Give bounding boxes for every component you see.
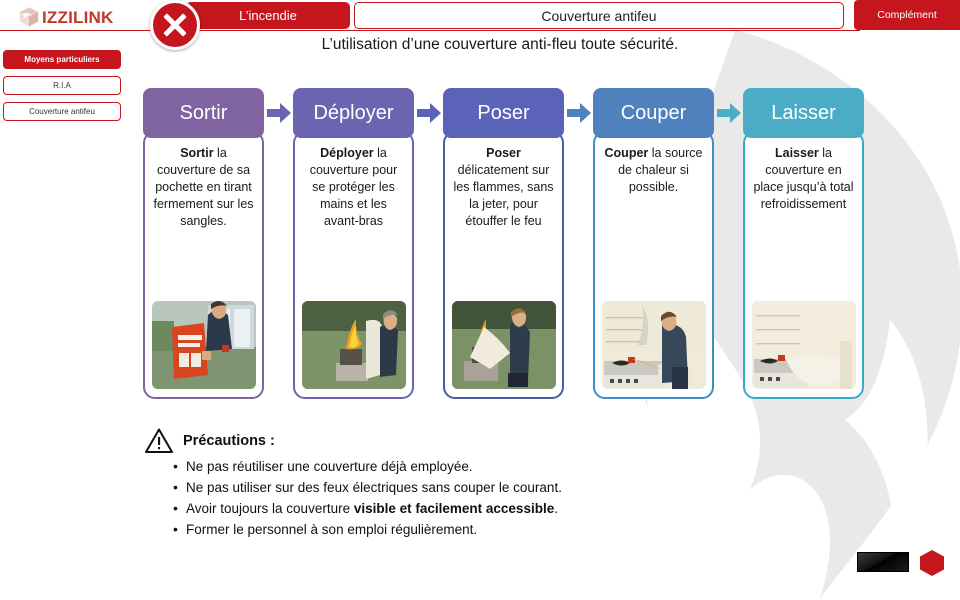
step-card-1: Sortir la couverture de sa pochette en t…	[143, 131, 264, 399]
step-header-2: Déployer	[293, 88, 414, 138]
step-illustration	[752, 301, 856, 389]
step-laisser[interactable]: LaisserLaisser la couverture en place ju…	[743, 88, 864, 399]
step-title: Déployer	[313, 102, 393, 125]
step-header-4: Couper	[593, 88, 714, 138]
tab-incendie[interactable]: L’incendie	[186, 2, 350, 29]
precaution-text-emphasis: visible et facilement accessible	[354, 501, 554, 516]
step-header-1: Sortir	[143, 88, 264, 138]
next-hex-button[interactable]	[918, 549, 946, 577]
step-card-3: Poser délicatement sur les flammes, sans…	[443, 131, 564, 399]
step-title: Poser	[477, 102, 529, 125]
step-title: Laisser	[771, 102, 835, 125]
step-card-5: Laisser la couverture en place jusqu’à t…	[743, 131, 864, 399]
step-illustration	[602, 301, 706, 389]
sidebar-item-couverture-antifeu[interactable]: Couverture antifeu	[3, 102, 121, 121]
precautions-title: Précautions :	[183, 433, 275, 449]
precaution-text: Ne pas utiliser sur des feux électriques…	[186, 480, 562, 495]
step-dployer[interactable]: DéployerDéployer la couverture pour se p…	[293, 88, 414, 399]
step-description-lead: Laisser	[775, 146, 819, 160]
cube-icon	[18, 6, 40, 28]
arrow-right-icon-1	[264, 88, 293, 138]
step-description: Sortir la couverture de sa pochette en t…	[152, 145, 255, 229]
precautions-header: Précautions :	[145, 428, 745, 453]
step-description-lead: Couper	[605, 146, 649, 160]
step-description-lead: Poser	[486, 146, 521, 160]
top-bar: IZZILINK L’incendie Couverture antifeu C…	[0, 0, 960, 31]
arrow-right-icon-4	[714, 88, 743, 138]
progress-bar[interactable]	[857, 552, 909, 572]
step-poser[interactable]: PoserPoser délicatement sur les flammes,…	[443, 88, 564, 399]
step-title: Sortir	[180, 102, 228, 125]
steps-flow: SortirSortir la couverture de sa pochett…	[143, 88, 867, 406]
step-description: Déployer la couverture pour se protéger …	[302, 145, 405, 229]
step-title: Couper	[621, 102, 687, 125]
step-illustration	[452, 301, 556, 389]
precautions-list: Ne pas réutiliser une couverture déjà em…	[173, 457, 745, 541]
sidebar: Moyens particuliers R.I.A Couverture ant…	[3, 50, 121, 128]
man-unfolding-blanket-before-fire-illustration	[302, 301, 406, 389]
step-description: Laisser la couverture en place jusqu’à t…	[752, 145, 855, 213]
blanket-left-on-stove-illustration	[752, 301, 856, 389]
logo-text: IZZILINK	[42, 9, 113, 26]
warning-triangle-icon	[145, 428, 173, 453]
slide-root: IZZILINK L’incendie Couverture antifeu C…	[0, 0, 960, 600]
precaution-text: Avoir toujours la couverture	[186, 501, 354, 516]
precaution-item: Avoir toujours la couverture visible et …	[173, 499, 745, 520]
step-description: Couper la source de chaleur si possible.	[602, 145, 705, 196]
arrow-right-icon-3	[564, 88, 593, 138]
step-description-body: délicatement sur les flammes, sans la je…	[453, 163, 553, 228]
step-description-lead: Déployer	[320, 146, 374, 160]
tab-complement[interactable]: Complément	[854, 0, 960, 30]
tab-couverture-antifeu[interactable]: Couverture antifeu	[354, 2, 844, 29]
step-couper[interactable]: CouperCouper la source de chaleur si pos…	[593, 88, 714, 399]
precaution-item: Ne pas utiliser sur des feux électriques…	[173, 478, 745, 499]
precaution-item: Ne pas réutiliser une couverture déjà em…	[173, 457, 745, 478]
precaution-item: Former le personnel à son emploi réguliè…	[173, 520, 745, 541]
sidebar-item-moyens-particuliers[interactable]: Moyens particuliers	[3, 50, 121, 69]
step-description: Poser délicatement sur les flammes, sans…	[452, 145, 555, 229]
step-card-2: Déployer la couverture pour se protéger …	[293, 131, 414, 399]
step-header-5: Laisser	[743, 88, 864, 138]
step-header-3: Poser	[443, 88, 564, 138]
step-description-lead: Sortir	[180, 146, 213, 160]
firefighter-pulling-blanket-from-pouch-illustration	[152, 301, 256, 389]
precaution-text: Ne pas réutiliser une couverture déjà em…	[186, 459, 473, 474]
sidebar-item-ria[interactable]: R.I.A	[3, 76, 121, 95]
step-sortir[interactable]: SortirSortir la couverture de sa pochett…	[143, 88, 264, 399]
man-turning-off-gas-stove-illustration	[602, 301, 706, 389]
page-subtitle: L’utilisation d’une couverture anti-fleu…	[140, 36, 860, 54]
app-logo[interactable]: IZZILINK	[18, 3, 130, 31]
man-laying-blanket-over-flames-illustration	[452, 301, 556, 389]
precaution-text: Former le personnel à son emploi réguliè…	[186, 522, 477, 537]
step-illustration	[152, 301, 256, 389]
header-divider	[0, 30, 860, 31]
arrow-right-icon-2	[414, 88, 443, 138]
precaution-text-tail: .	[554, 501, 558, 516]
step-card-4: Couper la source de chaleur si possible.	[593, 131, 714, 399]
step-illustration	[302, 301, 406, 389]
precautions-block: Précautions : Ne pas réutiliser une couv…	[145, 428, 745, 541]
